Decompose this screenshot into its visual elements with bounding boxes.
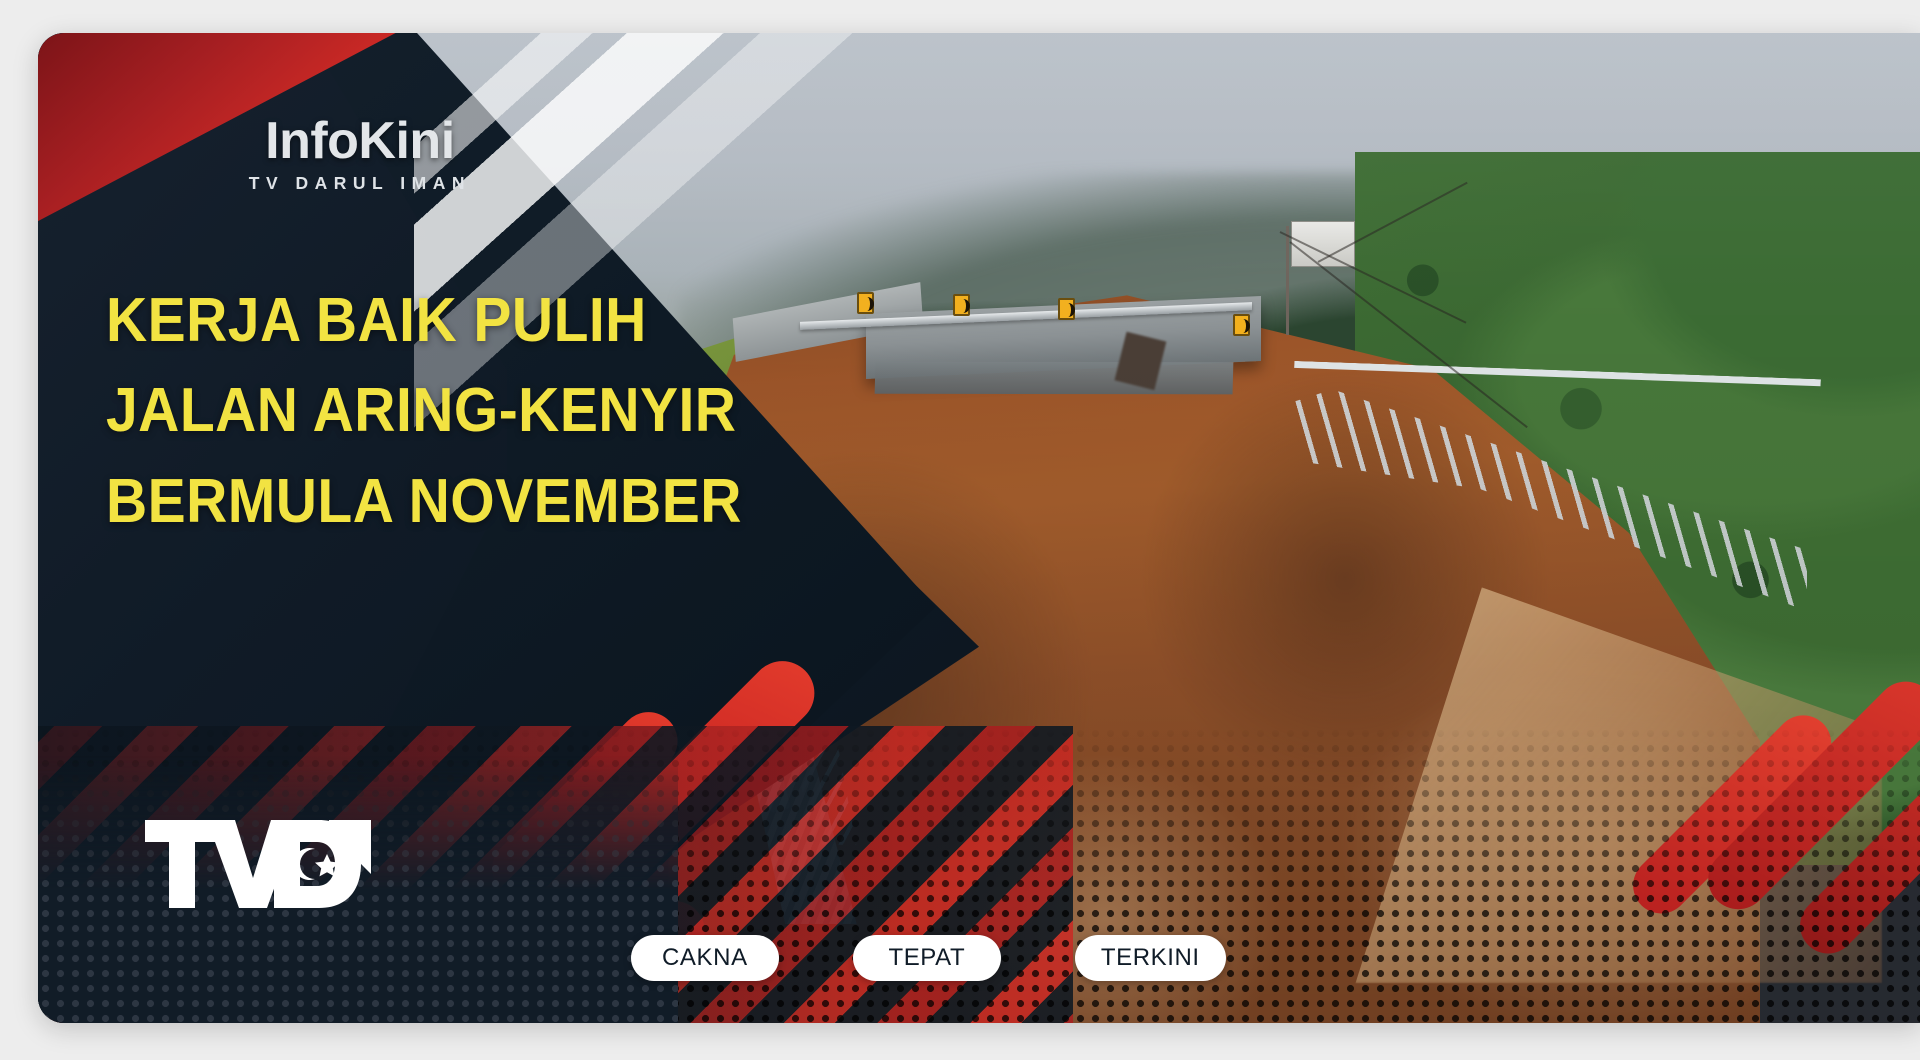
chevron-sign-icon [1233, 314, 1250, 336]
headline-line-1: KERJA BAIK PULIH [106, 276, 868, 367]
headline-line-3: BERMULA NOVEMBER [106, 457, 868, 548]
headline: KERJA BAIK PULIH JALAN ARING-KENYIR BERM… [106, 276, 934, 548]
chevron-sign-icon [953, 294, 970, 316]
news-card: InfoKini TV DARUL IMAN KERJA BAIK PULIH … [38, 33, 1920, 1023]
crescent-star-icon [294, 848, 340, 880]
page-canvas: InfoKini TV DARUL IMAN KERJA BAIK PULIH … [0, 0, 1920, 1060]
tag-pill-group: CAKNA TEPAT TERKINI [631, 935, 1226, 981]
chevron-sign-icon [1058, 298, 1075, 320]
brand-subtitle: TV DARUL IMAN [249, 173, 471, 194]
tag-pill-cakna[interactable]: CAKNA [631, 935, 779, 981]
tvdi-logo [143, 816, 373, 912]
headline-line-2: JALAN ARING-KENYIR [106, 366, 868, 457]
tag-pill-tepat[interactable]: TEPAT [853, 935, 1001, 981]
brand-block: InfoKini TV DARUL IMAN [249, 115, 471, 194]
tag-pill-terkini[interactable]: TERKINI [1075, 935, 1226, 981]
brand-name: InfoKini [249, 115, 471, 167]
